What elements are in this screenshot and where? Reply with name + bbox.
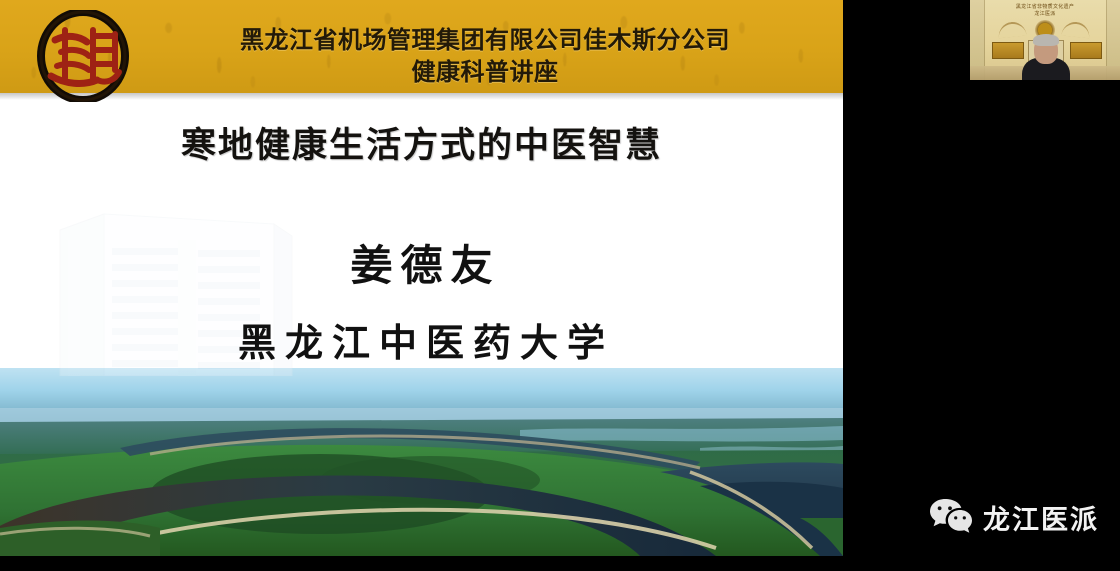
letterbox-bottom [0, 556, 843, 571]
speaker-affiliation: 黑龙江中医药大学 [0, 312, 843, 367]
speaker-name: 姜德友 [0, 232, 843, 293]
video-banner-line1: 黑龙江省非物质文化遗产 [970, 4, 1120, 11]
header-subtitle: 健康科普讲座 [140, 56, 830, 88]
backdrop-plaque-right [1070, 42, 1102, 59]
header-organization: 黑龙江省机场管理集团有限公司佳木斯分公司 [140, 24, 830, 56]
presenter-hair [1033, 34, 1059, 46]
watermark-label: 龙江医派 [983, 498, 1099, 537]
wechat-icon [929, 497, 973, 538]
wechat-icon-graphic [929, 497, 973, 533]
dragon-calligraphy-logo [31, 10, 135, 102]
dragon-logo-graphic [31, 10, 135, 102]
wechat-watermark: 龙江医派 [929, 497, 1099, 538]
landscape-photo-graphic [0, 368, 843, 556]
landscape-photo [0, 368, 843, 556]
presentation-slide: 寒地健康生活方式的中医智慧 姜德友 黑龙江中医药大学 [0, 0, 843, 556]
letterbox-right [843, 0, 1120, 571]
presenter-video-content: 黑龙江省非物质文化遗产 龙江医派 [970, 0, 1120, 80]
slide-main-title: 寒地健康生活方式的中医智慧 [0, 117, 843, 168]
header-text-block: 黑龙江省机场管理集团有限公司佳木斯分公司 健康科普讲座 [140, 24, 830, 88]
backdrop-plaque-left [992, 42, 1024, 59]
screen-recording-frame: 寒地健康生活方式的中医智慧 姜德友 黑龙江中医药大学 [0, 0, 1120, 571]
video-banner-text: 黑龙江省非物质文化遗产 龙江医派 [970, 4, 1120, 18]
presenter-video-thumbnail[interactable]: 黑龙江省非物质文化遗产 龙江医派 [970, 0, 1120, 80]
video-banner-line2: 龙江医派 [970, 11, 1120, 18]
